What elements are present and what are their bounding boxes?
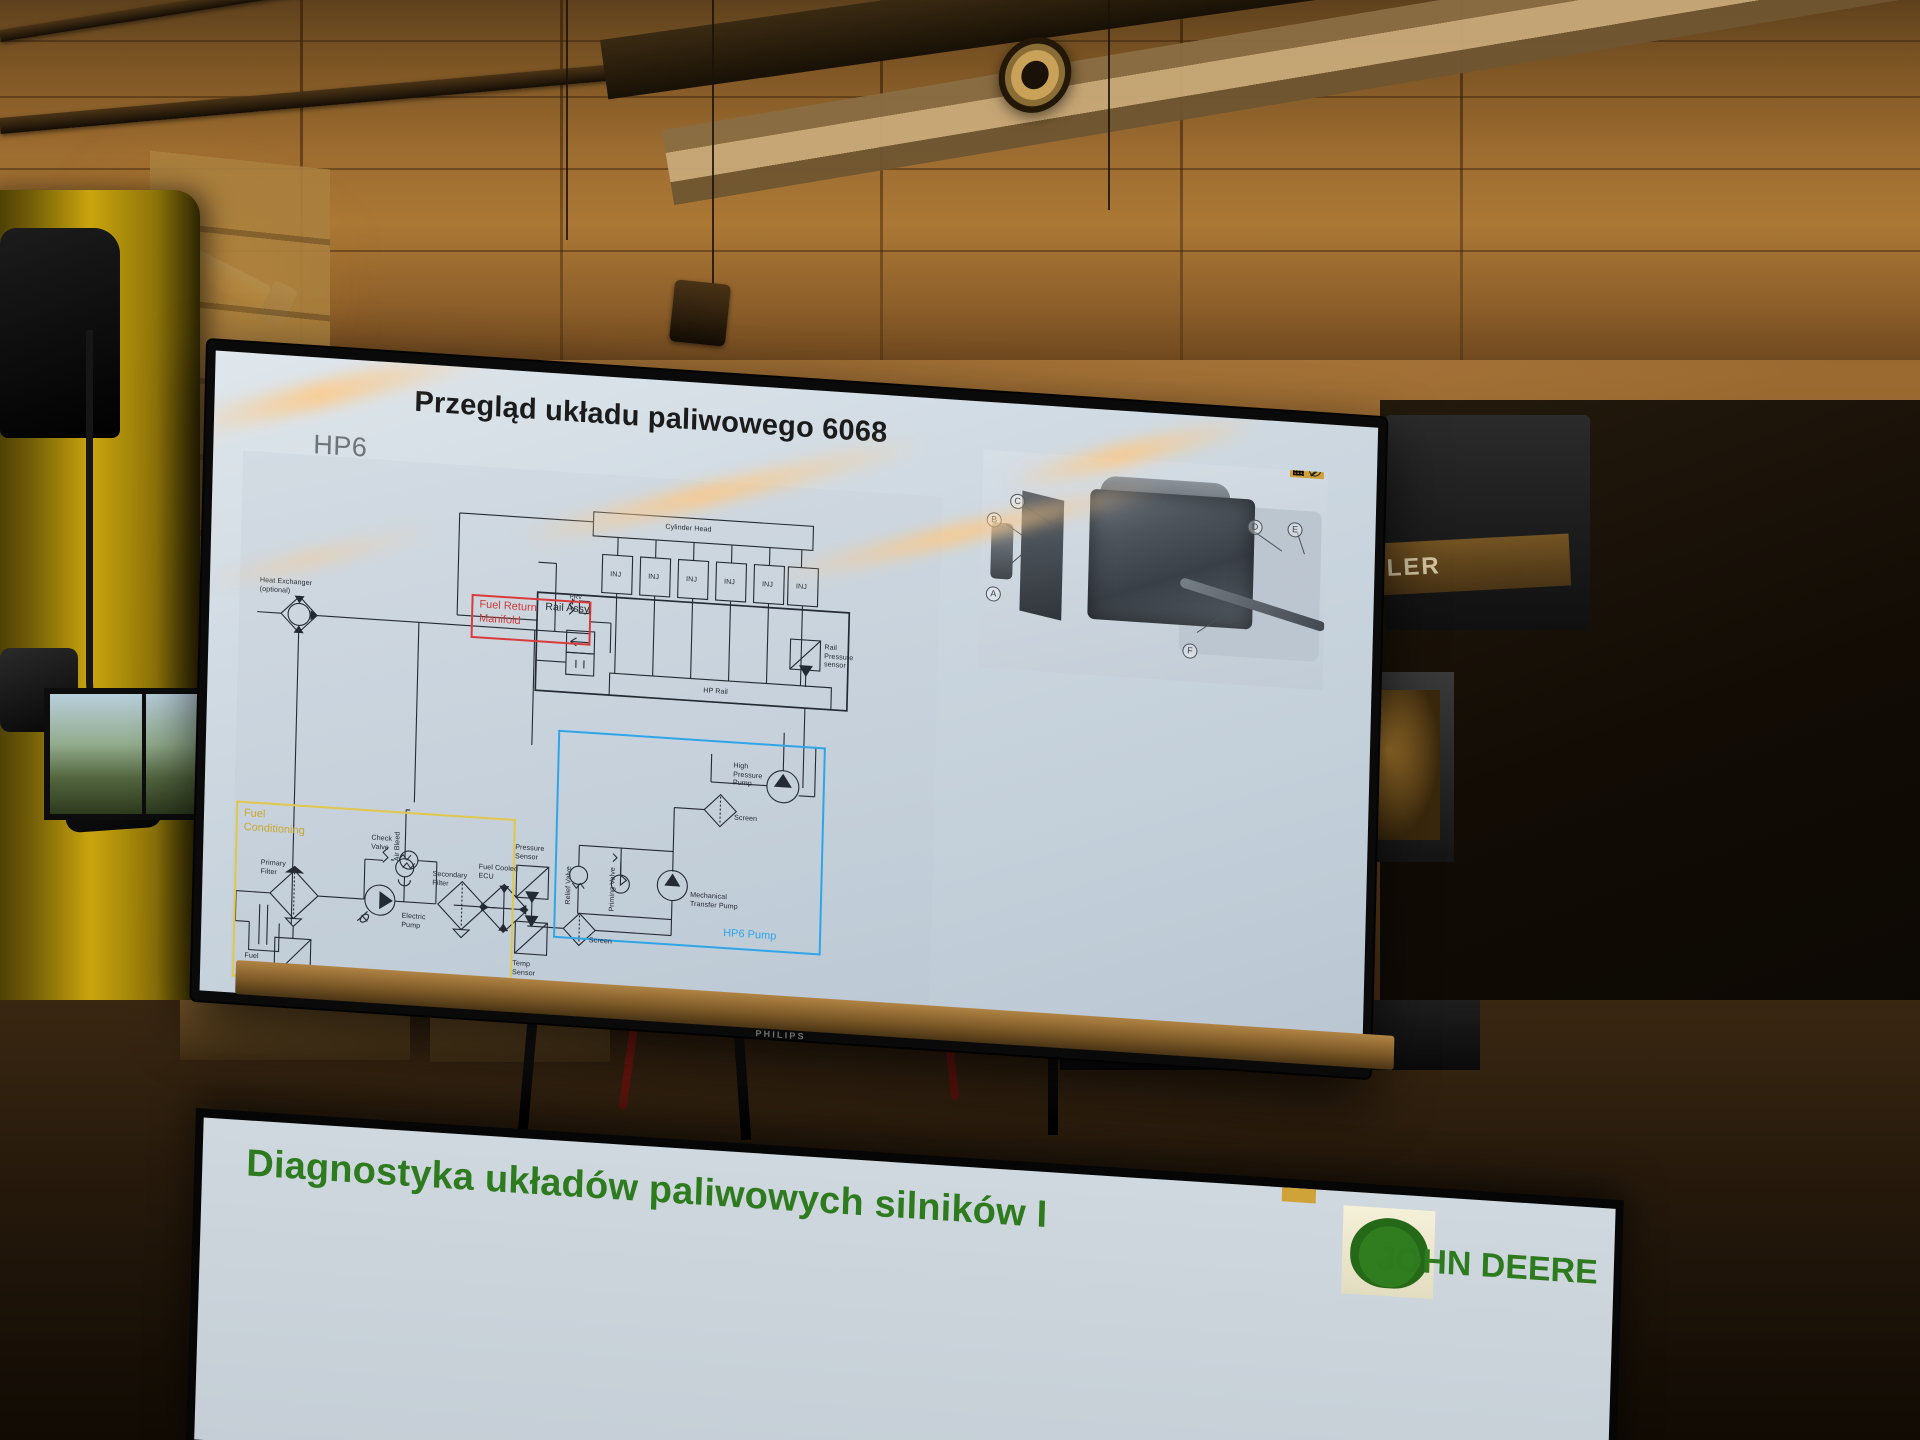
qr-code-badge: [1282, 1185, 1316, 1203]
label-injector: INJ: [762, 580, 773, 589]
label-screen-lower: Screen: [589, 936, 612, 946]
hanging-cable: [1108, 0, 1110, 210]
label-air-bleed: Air Bleed: [393, 831, 402, 861]
fuel-filter-part: [990, 522, 1013, 579]
projector-mount: [669, 279, 731, 347]
label-high-pressure-pump: High Pressure Pump: [733, 761, 763, 789]
label-fuel-cooled-ecu: Fuel Cooled ECU: [478, 863, 518, 883]
callout-a: A: [986, 586, 1001, 602]
label-heat-exchanger: Heat Exchanger (optional): [260, 576, 313, 597]
label-screen-upper: Screen: [734, 814, 757, 824]
label-electric-pump: Electric Pump: [401, 912, 425, 931]
group-hp6-pump: [553, 730, 826, 956]
label-fuel-tank: Fuel: [244, 951, 258, 961]
presentation-monitor[interactable]: Przegląd układu paliwowego 6068 HP6 Publ…: [191, 340, 1386, 1078]
label-relief-valve: Relief Valve: [564, 866, 574, 905]
label-injector: INJ: [648, 573, 659, 582]
group-label-fuel-conditioning: Fuel Conditioning: [243, 807, 305, 839]
label-injector: INJ: [724, 578, 735, 587]
label-mechanical-transfer-pump: Mechanical Transfer Pump: [690, 891, 738, 911]
secondary-screen-title: Diagnostyka układów paliwowych silników …: [246, 1142, 1048, 1237]
mirror-arm: [86, 330, 154, 750]
label-injector: INJ: [686, 575, 697, 584]
label-injector: INJ: [796, 582, 807, 591]
fuel-system-diagram: Fuel Return Manifold Fuel Conditioning H…: [230, 450, 942, 1026]
no-flash-icon: [1309, 464, 1321, 477]
slide-canvas: Przegląd układu paliwowego 6068 HP6 Publ…: [200, 351, 1379, 1068]
label-hp-rail: HP Rail: [703, 686, 728, 696]
engine-photo: A B C D E F: [978, 450, 1328, 691]
label-prv: PRV: [569, 594, 582, 602]
right-equipment-box: [1385, 415, 1590, 630]
monitor-screen[interactable]: Przegląd układu paliwowego 6068 HP6 Publ…: [200, 351, 1379, 1068]
label-primary-filter: Primary Filter: [260, 858, 286, 877]
callout-f: F: [1182, 643, 1197, 659]
label-pressure-sensor: Pressure Sensor: [515, 843, 545, 862]
group-label-fuel-return-manifold: Fuel Return Manifold: [479, 598, 537, 629]
label-injector: INJ: [610, 570, 621, 579]
label-rail-pressure-sensor: Rail Pressure sensor: [824, 643, 854, 671]
hanging-cable: [566, 0, 568, 240]
qr-icon: [1293, 464, 1304, 476]
qr-code-badge: [1290, 461, 1324, 479]
radiator-part: [1019, 491, 1064, 621]
label-check-valve: Check Valve: [371, 834, 392, 853]
engine-block: [1087, 489, 1255, 630]
label-priming-valve: Priming Valve: [608, 867, 618, 912]
label-secondary-filter: Secondary Filter: [432, 870, 467, 890]
hanging-cable: [712, 0, 714, 290]
label-temp-sensor: Temp Sensor: [512, 959, 535, 978]
